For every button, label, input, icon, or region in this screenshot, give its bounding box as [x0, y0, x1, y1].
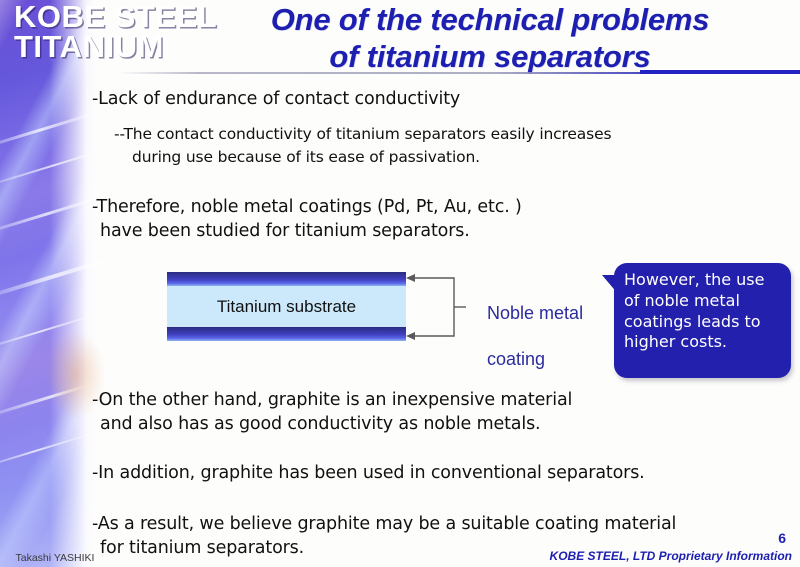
noble-label-line-2: coating: [487, 349, 545, 369]
title-line-1: One of the technical problems: [271, 2, 710, 37]
coating-callout-bracket-arrows: [404, 266, 468, 348]
titanium-substrate-diagram: Titanium substrate: [167, 272, 406, 341]
subbullet-contact-conductivity-line2: during use because of its ease of passiv…: [132, 147, 480, 167]
decorative-streak: [0, 247, 143, 303]
bullet-noble-metal-coatings-line1: -Therefore, noble metal coatings (Pd, Pt…: [92, 196, 522, 219]
arrow-head-bottom: [406, 332, 415, 340]
slide-canvas: KOBE STEEL TITANIUM One of the technical…: [0, 0, 800, 567]
bullet-lack-of-endurance: -Lack of endurance of contact conductivi…: [92, 88, 460, 111]
bullet-graphite-conventional: -In addition, graphite has been used in …: [92, 462, 645, 485]
footer-proprietary-notice: KOBE STEEL, LTD Proprietary Information: [550, 549, 792, 563]
title-divider-accent: [640, 70, 800, 74]
footer-author-name: Takashi YASHIKI: [15, 552, 94, 564]
bullet-noble-metal-coatings-line2: have been studied for titanium separator…: [100, 220, 470, 243]
bullet-graphite-suitable-line1: -As a result, we believe graphite may be…: [92, 513, 676, 536]
bullet-graphite-suitable-line2: for titanium separators.: [100, 537, 304, 560]
slide-title: One of the technical problems of titaniu…: [190, 2, 790, 75]
bullet-graphite-inexpensive-line2: and also has as good conductivity as nob…: [100, 413, 540, 436]
noble-metal-coating-bottom-bar: [167, 327, 406, 341]
logo-line-2: TITANIUM: [14, 32, 199, 62]
footer-author: Takashi YASHIKI KOBE STEEL, LTD.: [4, 537, 97, 567]
noble-metal-coating-label: Noble metal coating: [467, 279, 583, 394]
subbullet-contact-conductivity-line1: --The contact conductivity of titanium s…: [114, 124, 611, 144]
decorative-streak: [0, 429, 104, 472]
decorative-left-gradient-band: [0, 0, 96, 567]
decorative-streak: [0, 139, 138, 192]
callout-text: However, the use of noble metal coatings…: [624, 270, 792, 353]
callout-speech-bubble: However, the use of noble metal coatings…: [602, 263, 791, 378]
noble-label-line-1: Noble metal: [487, 303, 583, 323]
kobe-steel-titanium-logo: KOBE STEEL TITANIUM: [14, 2, 199, 63]
decorative-streak: [0, 106, 114, 153]
page-number: 6: [778, 530, 786, 546]
arrow-head-top: [406, 274, 415, 282]
